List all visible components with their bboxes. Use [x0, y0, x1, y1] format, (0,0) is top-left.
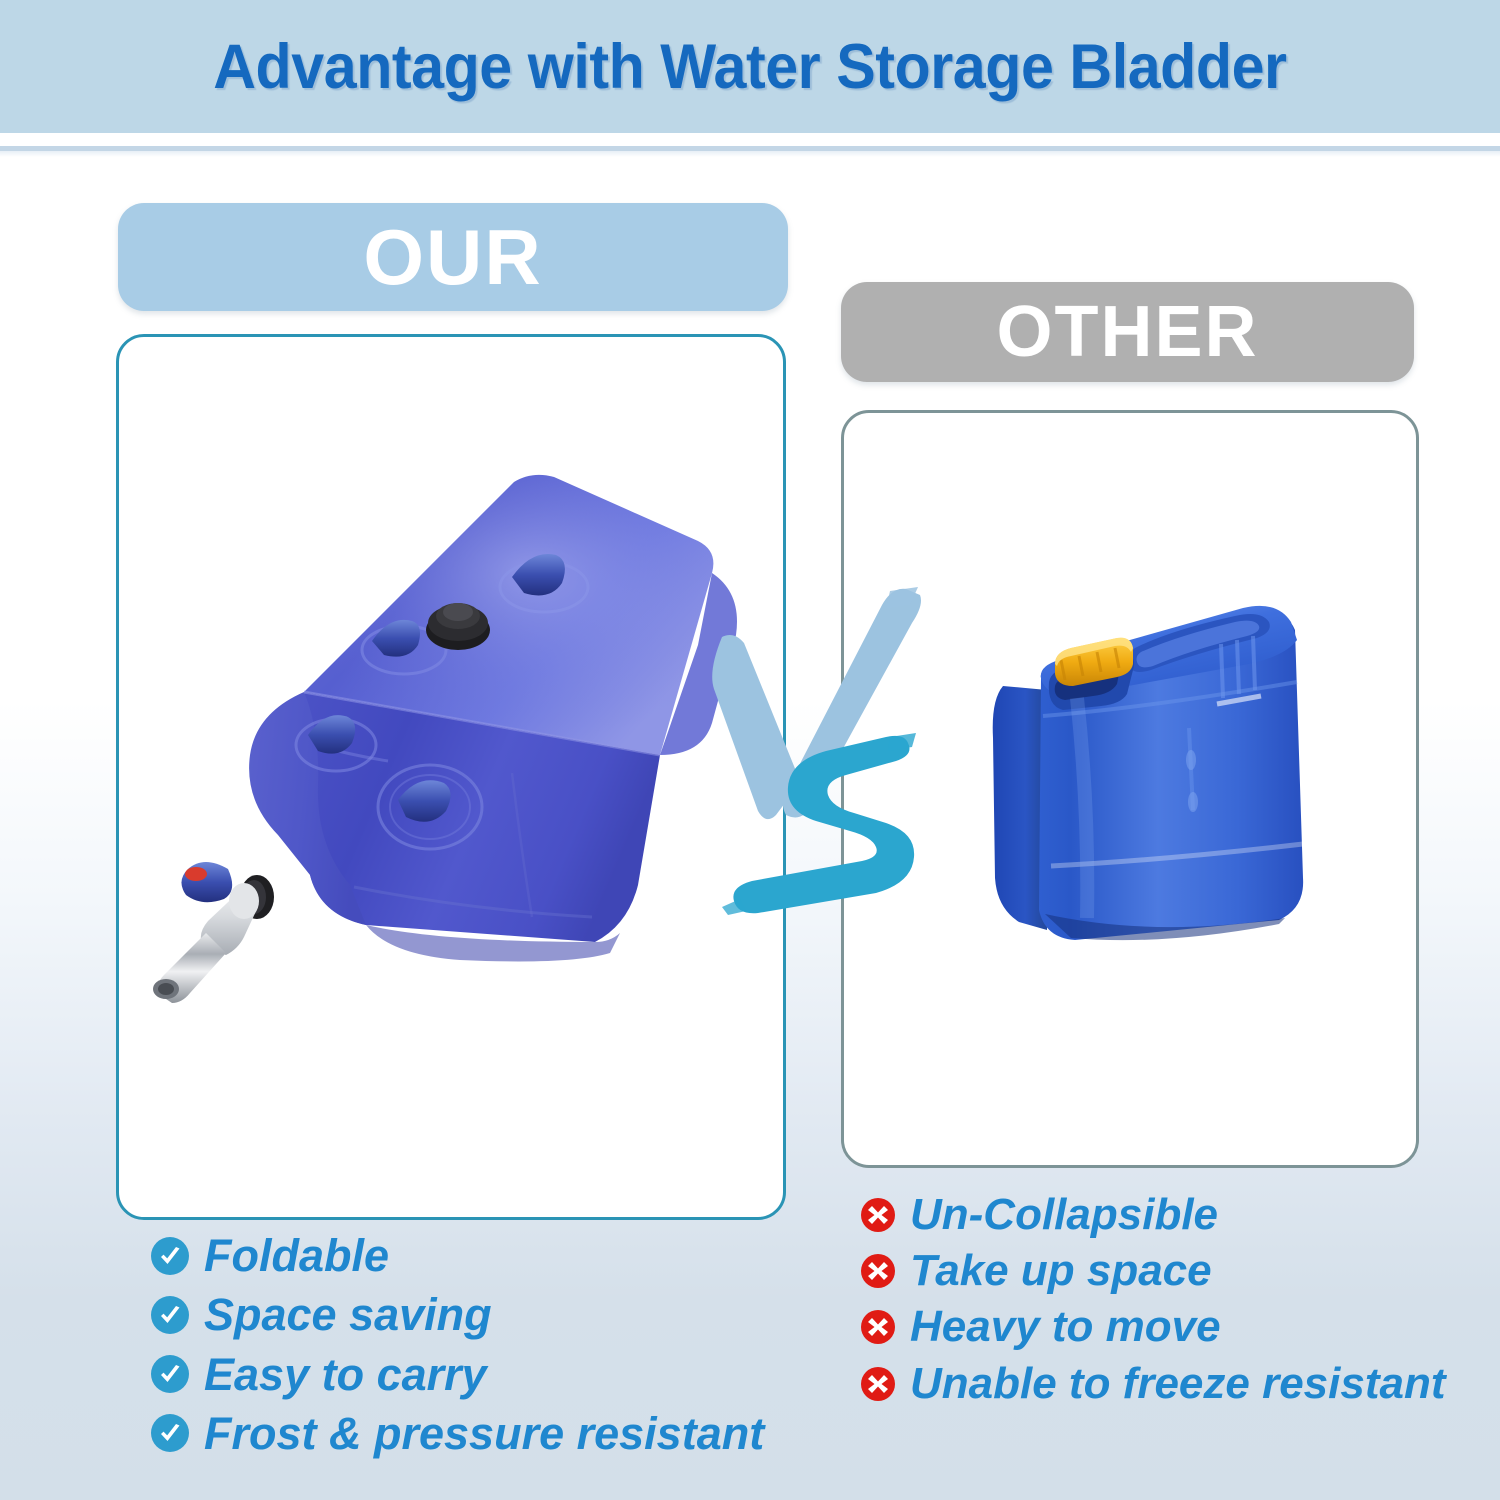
- list-item: Take up space: [860, 1248, 1500, 1294]
- our-badge: OUR: [118, 203, 788, 311]
- list-item: Un-Collapsible: [860, 1192, 1500, 1238]
- cross-circle-icon: [860, 1197, 896, 1233]
- versus-mark: [700, 565, 930, 915]
- other-feature-list: Un-Collapsible Take up space Heavy to mo…: [860, 1192, 1500, 1417]
- cross-circle-icon: [860, 1366, 896, 1402]
- header-divider-soft: [0, 151, 1500, 157]
- our-feature-list: Foldable Space saving Easy to carry: [150, 1232, 850, 1469]
- other-badge: OTHER: [841, 282, 1414, 382]
- list-item: Easy to carry: [150, 1351, 850, 1398]
- check-circle-icon: [150, 1413, 190, 1453]
- check-circle-icon: [150, 1354, 190, 1394]
- check-circle-icon: [150, 1295, 190, 1335]
- feature-label: Easy to carry: [204, 1351, 487, 1398]
- feature-label: Take up space: [910, 1248, 1212, 1294]
- page-title: Advantage with Water Storage Bladder: [213, 31, 1286, 103]
- feature-label: Space saving: [204, 1291, 492, 1338]
- jerry-can-image: [985, 578, 1315, 950]
- cross-circle-icon: [860, 1253, 896, 1289]
- feature-label: Heavy to move: [910, 1304, 1221, 1350]
- list-item: Foldable: [150, 1232, 850, 1279]
- check-circle-icon: [150, 1236, 190, 1276]
- water-bladder-image: [140, 455, 750, 1045]
- feature-label: Un-Collapsible: [910, 1192, 1218, 1238]
- list-item: Space saving: [150, 1291, 850, 1338]
- feature-label: Unable to freeze resistant: [910, 1361, 1446, 1407]
- our-badge-label: OUR: [363, 212, 542, 303]
- list-item: Unable to freeze resistant: [860, 1361, 1500, 1407]
- list-item: Heavy to move: [860, 1304, 1500, 1350]
- feature-label: Frost & pressure resistant: [204, 1410, 764, 1457]
- other-badge-label: OTHER: [997, 291, 1259, 373]
- feature-label: Foldable: [204, 1232, 389, 1279]
- list-item: Frost & pressure resistant: [150, 1410, 850, 1457]
- cross-circle-icon: [860, 1309, 896, 1345]
- infographic-page: Advantage with Water Storage Bladder OUR…: [0, 0, 1500, 1500]
- header-bar: Advantage with Water Storage Bladder: [0, 0, 1500, 133]
